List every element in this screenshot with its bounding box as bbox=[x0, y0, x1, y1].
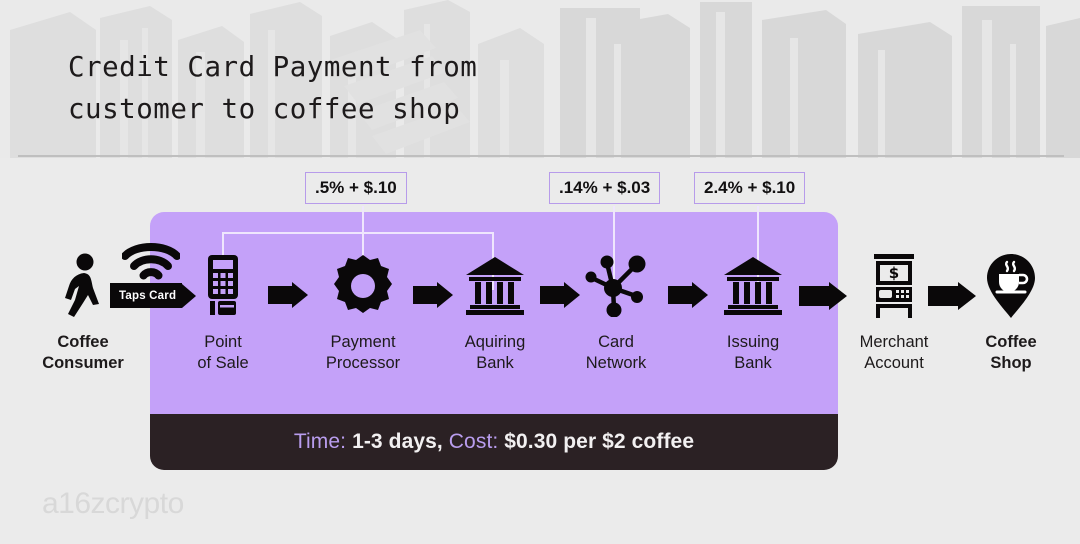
a16zcrypto-logo: a16zcrypto bbox=[42, 487, 184, 521]
page-title: Credit Card Payment from customer to cof… bbox=[68, 46, 477, 130]
fee-leader-bracket-horizontal bbox=[222, 232, 494, 234]
flow-node-label: Coffee Consumer bbox=[23, 332, 143, 374]
summary-banner: Time: 1-3 days, Cost: $0.30 per $2 coffe… bbox=[150, 414, 838, 470]
time-label: Time: bbox=[294, 430, 346, 453]
svg-text:$: $ bbox=[889, 264, 899, 282]
gear-icon bbox=[303, 250, 423, 322]
diagram-canvas: Credit Card Payment from customer to cof… bbox=[0, 0, 1080, 544]
coffee-map-pin-icon bbox=[951, 250, 1071, 322]
flow-node-payment-processor[interactable]: Payment Processor bbox=[303, 250, 423, 374]
flow-node-label: Card Network bbox=[556, 332, 676, 374]
flow-node-card-network[interactable]: Card Network bbox=[556, 250, 676, 374]
header-banner: Credit Card Payment from customer to cof… bbox=[0, 0, 1080, 158]
flow-node-coffee-shop[interactable]: Coffee Shop bbox=[951, 250, 1071, 374]
time-value: 1-3 days, bbox=[352, 430, 443, 453]
taps-card-badge[interactable]: Taps Card bbox=[110, 283, 196, 308]
payment-flow-row: Coffee Consumer Taps Card bbox=[0, 250, 1080, 400]
taps-card-arrow-tip bbox=[182, 284, 196, 308]
cost-label: Cost: bbox=[449, 430, 499, 453]
flow-node-label: Merchant Account bbox=[834, 332, 954, 374]
bank-icon bbox=[693, 250, 813, 322]
bank-icon bbox=[435, 250, 555, 322]
taps-card-label: Taps Card bbox=[110, 283, 182, 308]
fee-callout-issuing-bank[interactable]: 2.4% + $.10 bbox=[694, 172, 805, 204]
arrow-right-icon bbox=[799, 282, 839, 308]
flow-node-label: Point of Sale bbox=[163, 332, 283, 374]
flow-node-aquiring-bank[interactable]: Aquiring Bank bbox=[435, 250, 555, 374]
flow-node-point-of-sale[interactable]: Point of Sale bbox=[163, 250, 283, 374]
header-divider bbox=[18, 155, 1064, 157]
summary-text: Time: 1-3 days, Cost: $0.30 per $2 coffe… bbox=[294, 430, 694, 454]
network-hub-icon bbox=[556, 250, 676, 322]
fee-callout-card-network[interactable]: .14% + $.03 bbox=[549, 172, 660, 204]
flow-node-label: Payment Processor bbox=[303, 332, 423, 374]
flow-node-merchant-account[interactable]: $ Merchant Account bbox=[834, 250, 954, 374]
flow-node-label: Coffee Shop bbox=[951, 332, 1071, 374]
cost-value: $0.30 per $2 coffee bbox=[504, 430, 694, 453]
flow-node-issuing-bank[interactable]: Issuing Bank bbox=[693, 250, 813, 374]
fee-callout-pos-acquiring[interactable]: .5% + $.10 bbox=[305, 172, 407, 204]
arrow-right-icon bbox=[268, 282, 308, 308]
flow-node-label: Issuing Bank bbox=[693, 332, 813, 374]
flow-node-label: Aquiring Bank bbox=[435, 332, 555, 374]
